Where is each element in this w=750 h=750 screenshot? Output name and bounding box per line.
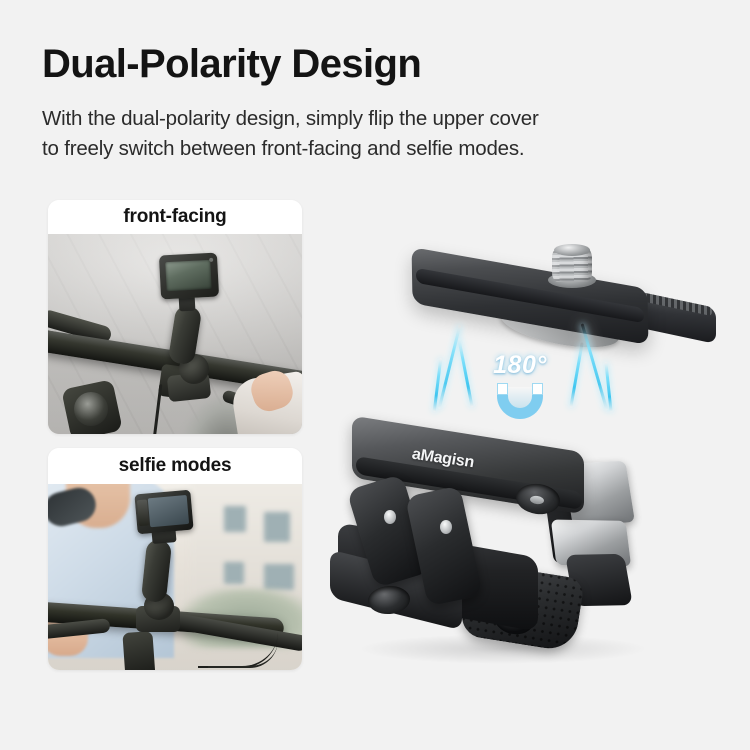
photo-front-facing (48, 234, 302, 434)
page-subtitle: With the dual-polarity design, simply fl… (42, 104, 722, 164)
hinge-pin (384, 510, 396, 524)
hinge-pin (440, 520, 452, 534)
building-window (264, 564, 294, 590)
magnet-pole-left (497, 383, 508, 395)
building-window (264, 512, 290, 542)
handlebar-stem (122, 631, 155, 670)
camera-indicator-dot (209, 258, 213, 262)
product-feature-page: Dual-Polarity Design With the dual-polar… (0, 0, 750, 750)
photo-card-front-facing: front-facing (48, 200, 302, 434)
action-camera (134, 490, 193, 535)
camera-screen (148, 495, 189, 527)
photo-selfie-modes (48, 484, 302, 670)
horseshoe-magnet-icon (497, 379, 543, 419)
photo-card-selfie-modes: selfie modes (48, 448, 302, 670)
card-label-selfie-modes: selfie modes (48, 448, 302, 484)
subtitle-line-2: to freely switch between front-facing an… (42, 134, 722, 164)
action-camera (159, 253, 219, 300)
handlebar-stem-cap (74, 392, 108, 426)
page-title: Dual-Polarity Design (42, 40, 421, 88)
building-window (224, 562, 244, 584)
magnet-180-badge: 180° (470, 352, 570, 432)
subtitle-line-1: With the dual-polarity design, simply fl… (42, 104, 722, 134)
building-window (224, 506, 246, 532)
quarter-inch-screw (552, 248, 592, 282)
product-lower-mount: aMagisn (330, 428, 680, 668)
magnet-pole-right (532, 383, 543, 395)
camera-screen (165, 260, 211, 291)
card-label-front-facing: front-facing (48, 200, 302, 234)
product-upper-cover (404, 248, 714, 358)
screw-top (554, 244, 590, 256)
rotation-angle-label: 180° (470, 352, 570, 378)
